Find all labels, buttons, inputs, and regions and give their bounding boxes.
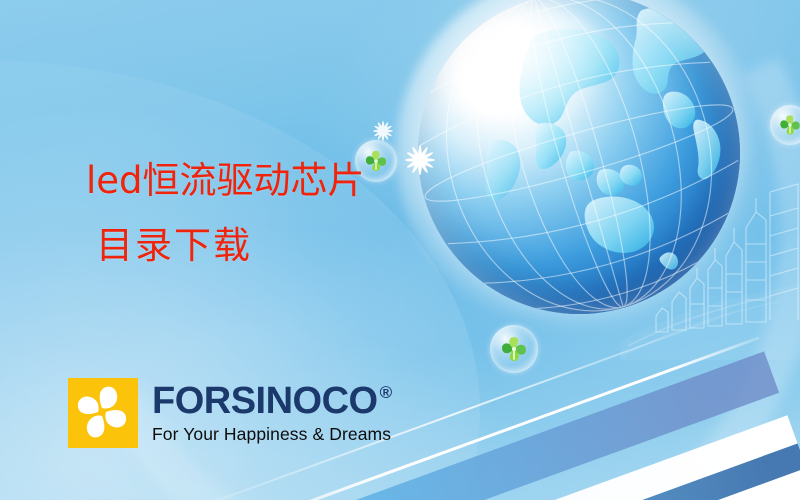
globe-rim-light (418, 0, 740, 314)
sparkle-daisy-large (403, 143, 437, 177)
brand-wordmark: FORSINOCO ® (152, 382, 392, 420)
pinwheel-icon (501, 336, 527, 362)
brand-name: FORSINOCO (152, 382, 378, 420)
pinwheel-icon (365, 150, 387, 172)
four-petal-flower-icon (68, 378, 138, 448)
bubble-pinwheel-lower (490, 325, 538, 373)
pinwheel-icon (780, 115, 800, 136)
logo-mark (68, 378, 138, 448)
promo-banner: led恒流驱动芯片 目录下载 FORSINOCO ® For Your Happ… (0, 0, 800, 500)
headline-line-2: 目录下载 (96, 227, 365, 264)
headline-block: led恒流驱动芯片 目录下载 (86, 162, 365, 264)
headline-line-1: led恒流驱动芯片 (86, 162, 365, 199)
company-logo: FORSINOCO ® For Your Happiness & Dreams (68, 378, 392, 448)
logo-text-block: FORSINOCO ® For Your Happiness & Dreams (152, 382, 392, 444)
brand-tagline: For Your Happiness & Dreams (152, 426, 392, 444)
earth-globe-graphic (418, 0, 740, 314)
globe-sphere (418, 0, 740, 314)
sparkle-daisy-small (372, 120, 394, 142)
registered-trademark-icon: ® (380, 384, 392, 401)
